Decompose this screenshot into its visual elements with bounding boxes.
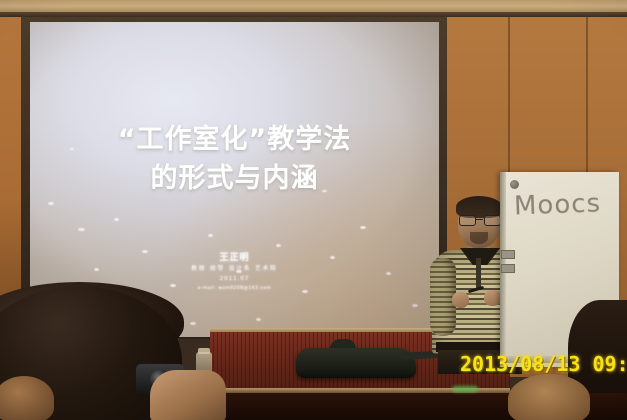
presenter-left-hand	[452, 292, 469, 308]
hand-holding-camera	[150, 370, 226, 420]
conference-photo: “工作室化”教学法 的形式与内涵 王正明 教授 硕导 设计系 艺术院 2011.…	[0, 0, 627, 420]
presenter-beard	[470, 232, 488, 244]
laptop-bag	[296, 348, 416, 378]
audience-head	[0, 376, 54, 420]
slide-author-name: 王正明	[30, 252, 439, 264]
whiteboard-clip	[501, 250, 515, 259]
whiteboard-knob-icon	[510, 180, 519, 189]
presenter-placket	[476, 258, 481, 288]
slide-title-line1: “工作室化”教学法	[118, 124, 352, 155]
slide-title: “工作室化”教学法 的形式与内涵	[30, 120, 439, 198]
slide-title-line2: 的形式与内涵	[30, 159, 439, 198]
whiteboard-text: Moocs	[514, 188, 602, 221]
camera-timestamp: 2013/08/13 09:	[460, 352, 627, 376]
indicator-light	[452, 386, 478, 392]
glasses-icon	[459, 215, 499, 224]
audience-head	[508, 374, 590, 420]
slide-author-affiliation: 教授 硕导 设计系 艺术院	[30, 264, 439, 274]
left-wall-panel	[0, 17, 23, 317]
presenter-right-hand	[484, 290, 501, 306]
whiteboard-clip	[501, 264, 515, 273]
